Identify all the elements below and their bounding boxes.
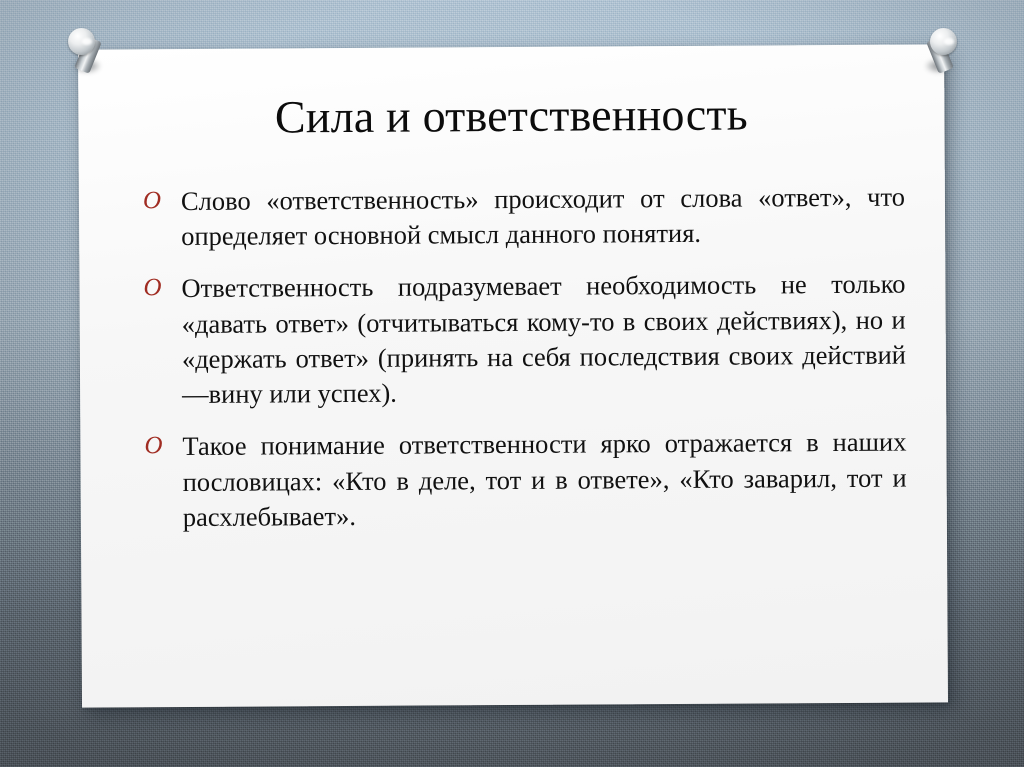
circle-bullet-icon: O [144, 434, 162, 459]
list-item-text: Ответственность подразумевает необходимо… [181, 267, 906, 412]
bullet-list: O Слово «ответственность» происходит от … [135, 180, 907, 553]
paper-sheet: Сила и ответственность O Слово «ответств… [78, 44, 948, 707]
pin-head [930, 28, 957, 55]
circle-bullet-icon: O [143, 188, 161, 213]
pin-head [68, 28, 95, 55]
list-item: O Слово «ответственность» происходит от … [135, 180, 905, 255]
page-title: Сила и ответственность [78, 88, 944, 144]
pin-highlight [944, 38, 954, 45]
list-item: O Ответственность подразумевает необходи… [135, 267, 906, 413]
list-item: O Такое понимание ответственности ярко о… [136, 425, 907, 535]
pin-highlight [82, 38, 92, 45]
push-pin-left-icon [64, 22, 112, 80]
slide-content: Сила и ответственность O Слово «ответств… [78, 44, 948, 707]
circle-bullet-icon: O [143, 276, 161, 301]
push-pin-right-icon [916, 22, 964, 80]
list-item-text: Такое понимание ответственности ярко отр… [182, 425, 907, 535]
list-item-text: Слово «ответственность» происходит от сл… [181, 180, 905, 255]
